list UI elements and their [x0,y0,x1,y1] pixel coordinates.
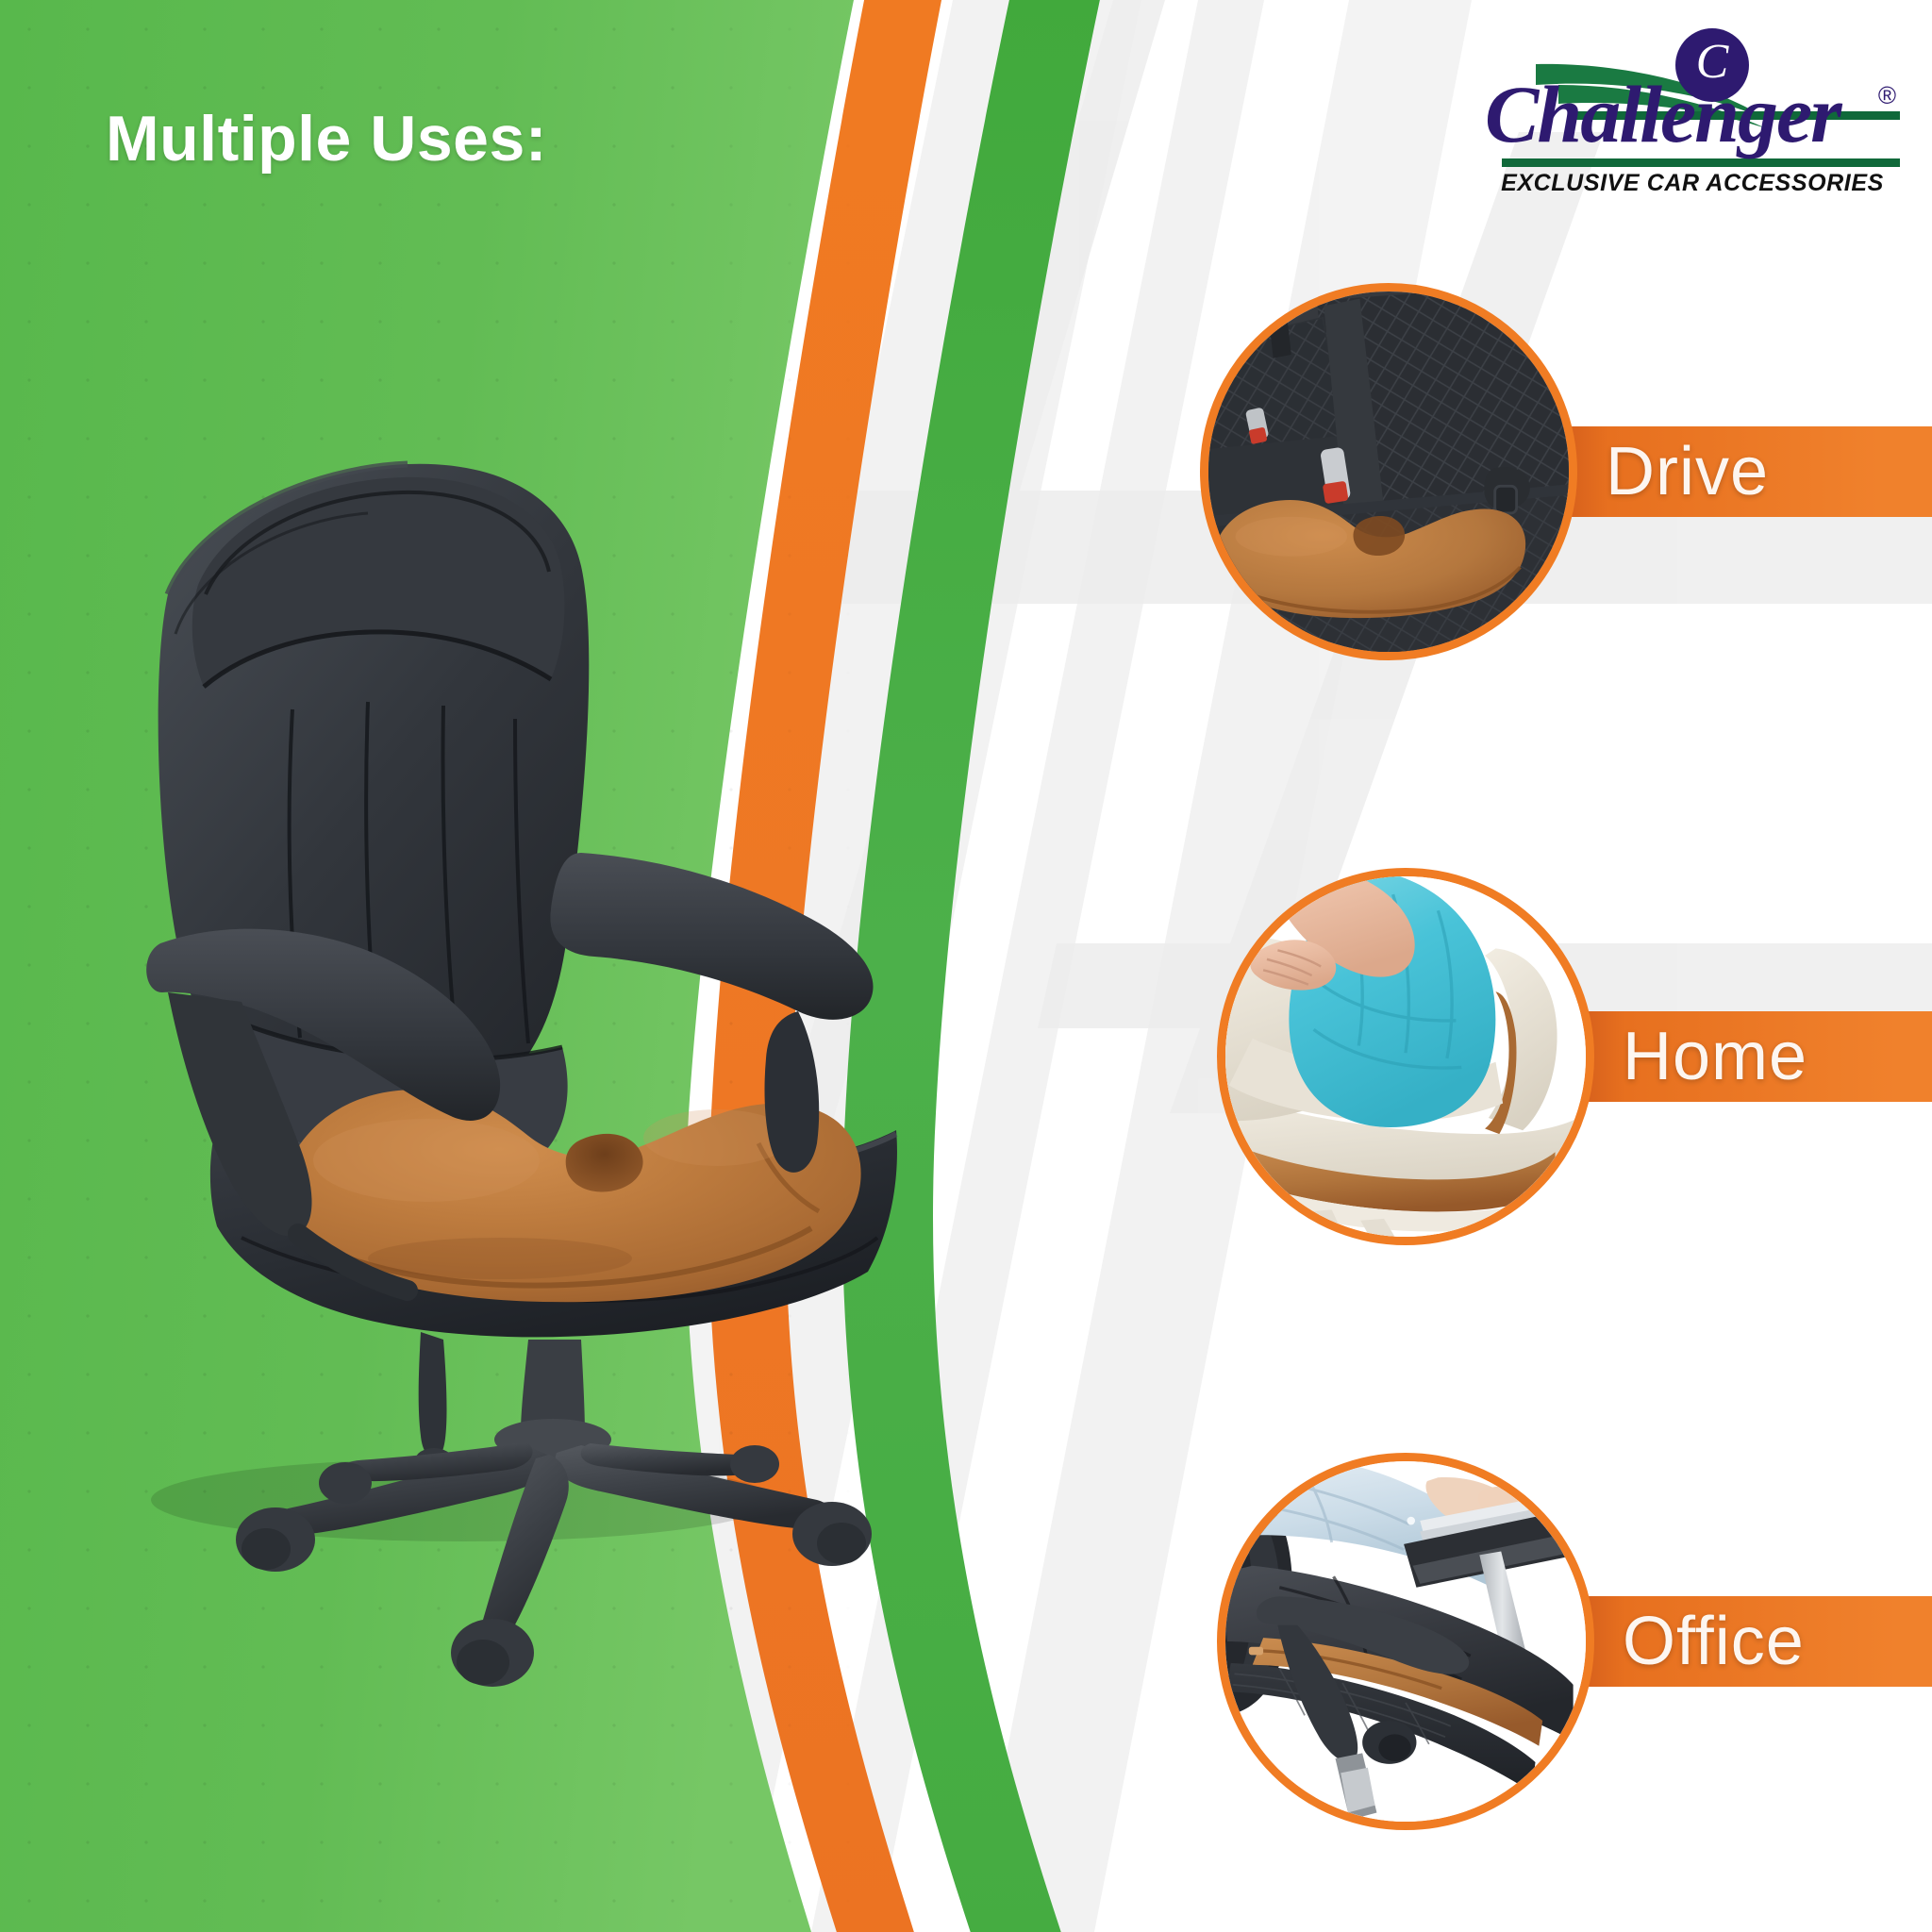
logo-rule-bottom [1502,158,1900,167]
product-infographic: Multiple Uses: C Challenger ® EXCLUSIVE … [0,0,1932,1932]
use-case-drive: Drive [1200,283,1932,660]
use-case-home: Home [1217,868,1932,1245]
hero-product-image [57,283,924,1566]
use-case-photo-office [1217,1453,1594,1830]
brand-logo: C Challenger ® EXCLUSIVE CAR ACCESSORIES [1485,26,1900,158]
use-case-label-office: Office [1623,1596,1932,1687]
use-case-office: Office [1217,1453,1932,1830]
brand-wordmark: Challenger [1485,74,1840,155]
use-case-photo-drive [1200,283,1577,660]
brand-tagline: EXCLUSIVE CAR ACCESSORIES [1485,170,1900,197]
person-sitting-at-home-illustration [1225,876,1586,1237]
page-title: Multiple Uses: [106,102,547,175]
monogram-letter: C [1696,38,1729,87]
office-chair-illustration [57,283,924,1566]
use-case-photo-home [1217,868,1594,1245]
use-case-label-drive: Drive [1606,426,1932,517]
registered-mark: ® [1878,81,1896,110]
person-at-desk-illustration [1225,1461,1586,1822]
car-rear-seat-illustration [1208,291,1569,652]
monogram-badge: C [1675,28,1749,102]
use-case-label-home: Home [1623,1011,1932,1102]
